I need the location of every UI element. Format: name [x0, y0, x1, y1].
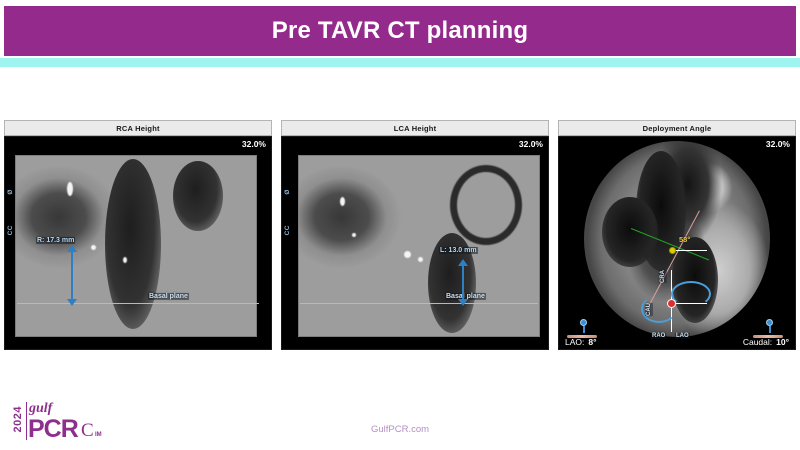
panel-lca-image[interactable]: 32.0% Ø CC Basal plane L: 13.0 mm: [281, 136, 549, 350]
panel-deployment-title: Deployment Angle: [643, 124, 712, 133]
ct-aortic-ring: [450, 165, 522, 245]
measurement-arrow-shaft: [71, 251, 73, 303]
readout-caudal-value: 10°: [776, 337, 789, 347]
ct-calcification: [418, 257, 423, 262]
panel-rca-height[interactable]: RCA Height 32.0% Ø CC Basal plane R: 1: [4, 120, 272, 350]
title-banner: Pre TAVR CT planning: [4, 6, 796, 56]
compass-label-caudal: CAU: [645, 303, 653, 316]
ct-image-lca: [282, 137, 548, 349]
compass-arc-upper: [671, 281, 711, 307]
panel-row: RCA Height 32.0% Ø CC Basal plane R: 1: [0, 120, 800, 358]
readout-lao-label: LAO:: [565, 337, 584, 347]
rca-height-measurement-label: R: 17.3 mm: [36, 237, 75, 244]
compass-label-lao: LAO: [675, 333, 690, 339]
logo-mark-im: IM: [95, 432, 102, 438]
panel-lca-height[interactable]: LCA Height 32.0% Ø CC Basal plane: [281, 120, 549, 350]
logo-mark-c: C: [81, 420, 94, 442]
basal-plane-line: [17, 303, 259, 304]
ct-calcification: [67, 182, 73, 196]
panel-deployment-header: Deployment Angle: [558, 120, 796, 136]
deployment-angle-reference-line: [673, 250, 707, 251]
fluoro-catheter-shadow: [602, 197, 658, 267]
ct-calcification: [91, 245, 96, 250]
panel-rca-title: RCA Height: [116, 124, 159, 133]
deployment-position-marker: [667, 299, 676, 308]
measurement-arrow-down-icon: [67, 299, 77, 306]
panel-rca-header: RCA Height: [4, 120, 272, 136]
orientation-label-cc: CC: [284, 225, 291, 235]
ct-calcification: [352, 233, 356, 237]
detector-stem-icon: [769, 326, 771, 333]
measurement-arrow-down-icon: [458, 299, 468, 306]
panel-rca-image[interactable]: 32.0% Ø CC Basal plane R: 17.3 mm: [4, 136, 272, 350]
orientation-label-diameter: Ø: [284, 189, 291, 195]
basal-plane-line: [300, 303, 538, 304]
readout-caudal-label: Caudal:: [743, 337, 772, 347]
detector-stem-icon: [583, 326, 585, 333]
accent-stripe: [0, 58, 800, 67]
measurement-arrow-up-icon: [458, 259, 468, 266]
ct-vessel-dark: [173, 161, 223, 231]
panel-lca-title: LCA Height: [394, 124, 437, 133]
zoom-level-deployment: 32.0%: [766, 139, 790, 149]
measurement-arrow-shaft: [462, 265, 464, 303]
panel-deployment-image[interactable]: 32.0% 58° CRA CAU RAO LAO: [558, 136, 796, 350]
fluoroscopy-image: [584, 141, 770, 337]
basal-plane-label: Basal plane: [148, 293, 189, 300]
slide: Pre TAVR CT planning RCA Height 32.0%: [0, 0, 800, 450]
zoom-level-rca: 32.0%: [242, 139, 266, 149]
zoom-level-lca: 32.0%: [519, 139, 543, 149]
orientation-label-diameter: Ø: [7, 189, 14, 195]
detector-chip-icon: [580, 319, 587, 326]
measurement-arrow-up-icon: [67, 245, 77, 252]
compass-label-rao: RAO: [651, 333, 666, 339]
readout-caudal: Caudal:10°: [743, 337, 789, 347]
logo-word-pcr: PCR: [28, 415, 78, 444]
ct-calcification: [404, 251, 411, 258]
page-title: Pre TAVR CT planning: [272, 17, 528, 45]
orientation-label-cc: CC: [7, 225, 14, 235]
logo-year: 2024: [12, 406, 24, 432]
gulf-pcr-logo: 2024 gulf PCR C IM: [12, 400, 122, 444]
readout-lao: LAO:8°: [565, 337, 597, 347]
readout-lao-value: 8°: [588, 337, 596, 347]
compass-label-cranial: CRA: [659, 270, 667, 283]
deployment-angle-vertex: [669, 247, 676, 254]
lca-height-measurement-label: L: 13.0 mm: [439, 247, 478, 254]
panel-deployment-angle[interactable]: Deployment Angle 32.0% 58°: [558, 120, 796, 350]
deployment-angle-value: 58°: [679, 235, 690, 244]
panel-lca-header: LCA Height: [281, 120, 549, 136]
ct-calcification: [123, 257, 127, 263]
ct-calcification: [340, 197, 345, 206]
detector-chip-icon: [766, 319, 773, 326]
logo-divider: [26, 402, 27, 440]
